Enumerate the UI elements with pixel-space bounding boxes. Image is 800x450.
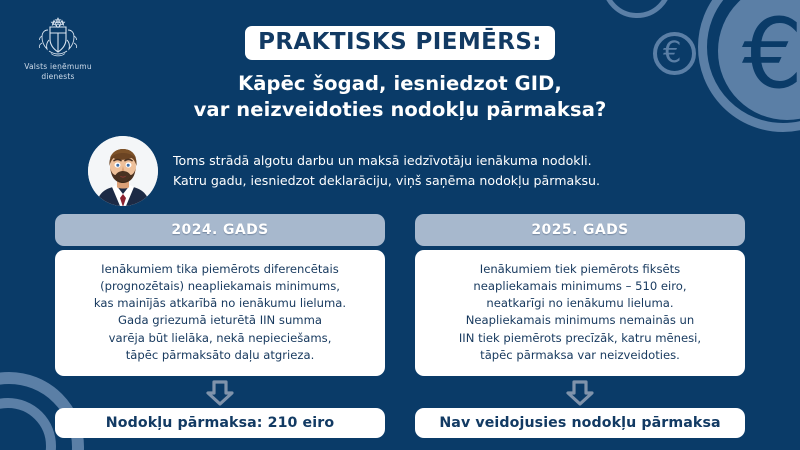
column-2024-body-line-6: tāpēc pārmaksāto daļu atgrieza.: [126, 348, 315, 362]
page-title-badge: PRAKTISKS PIEMĒRS:: [245, 26, 555, 60]
page-subtitle: Kāpēc šogad, iesniedzot GID, var neizvei…: [0, 71, 800, 122]
column-2025-card: Ienākumiem tiek piemērots fiksēts neapli…: [415, 250, 745, 376]
persona-description: Toms strādā algotu darbu un maksā iedzīv…: [173, 151, 600, 190]
column-2025-year-label: 2025. GADS: [415, 214, 745, 246]
column-2024-card: Ienākumiem tika piemērots diferencētais …: [55, 250, 385, 376]
column-2025-body-line-1: Ienākumiem tiek piemērots fiksēts: [480, 262, 680, 276]
column-2024-year-label: 2024. GADS: [55, 214, 385, 246]
arrow-down-icon: [565, 380, 595, 406]
column-2024-body-line-1: Ienākumiem tika piemērots diferencētais: [101, 262, 339, 276]
column-2024-body-line-4: Gada griezumā ieturētā IIN summa: [118, 313, 322, 327]
headline-block: PRAKTISKS PIEMĒRS: Kāpēc šogad, iesniedz…: [0, 26, 800, 122]
column-2025-body-line-3: neatkarīgi no ienākumu lieluma.: [486, 296, 673, 310]
column-2025-body-line-4: Neapliekamais minimums nemainās un: [466, 313, 695, 327]
avatar: [88, 136, 158, 206]
coin-arc-bottomleft-inner: [0, 398, 56, 450]
column-2024: 2024. GADS Ienākumiem tika piemērots dif…: [55, 214, 385, 438]
arrow-down-icon: [205, 380, 235, 406]
column-2024-body-line-5: varēja būt lielāka, nekā nepieciešams,: [109, 331, 332, 345]
column-2024-body-line-3: kas mainījās atkarībā no ienākumu lielum…: [94, 296, 346, 310]
persona-row: Toms strādā algotu darbu un maksā iedzīv…: [88, 134, 728, 208]
page-subtitle-line-1: Kāpēc šogad, iesniedzot GID,: [0, 71, 800, 97]
bearded-man-avatar-icon: [88, 136, 158, 206]
column-2025-body-line-5: IIN tiek piemērots precīzāk, katru mēnes…: [459, 331, 701, 345]
column-2025-body-line-2: neapliekamais minimums – 510 eiro,: [473, 279, 686, 293]
persona-line-2: Katru gadu, iesniedzot deklarāciju, viņš…: [173, 171, 600, 191]
infographic-slide: € €: [0, 0, 800, 450]
persona-line-1: Toms strādā algotu darbu un maksā iedzīv…: [173, 151, 600, 171]
column-2024-body-line-2: (prognozētais) neapliekamais minimums,: [100, 279, 340, 293]
column-2024-result: Nodokļu pārmaksa: 210 eiro: [55, 408, 385, 438]
column-2025-result: Nav veidojusies nodokļu pārmaksa: [415, 408, 745, 438]
column-2024-arrow-slot: [55, 378, 385, 408]
page-subtitle-line-2: var neizveidoties nodokļu pārmaksa?: [0, 97, 800, 123]
column-2025-body-line-6: tāpēc pārmaksa var neizveidoties.: [480, 348, 680, 362]
column-2025-arrow-slot: [415, 378, 745, 408]
euro-coin-ring-corner: [602, 0, 672, 18]
column-2025: 2025. GADS Ienākumiem tiek piemērots fik…: [415, 214, 745, 438]
